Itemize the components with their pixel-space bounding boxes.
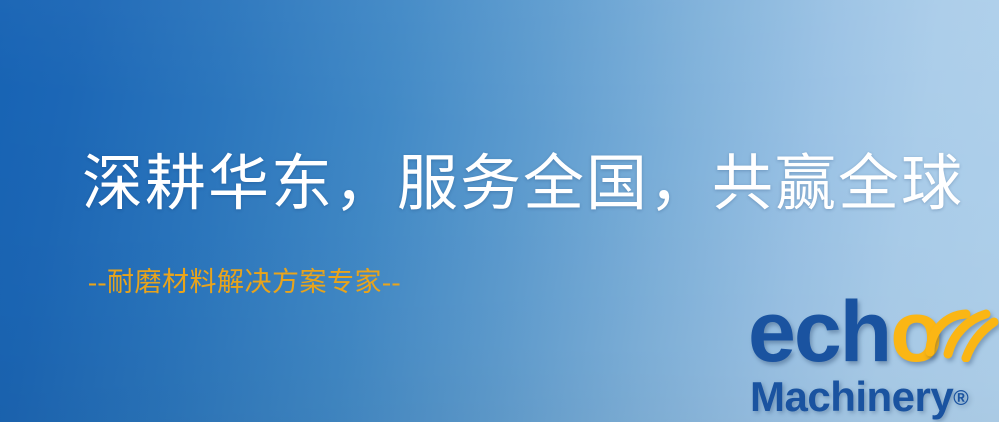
registered-trademark-icon: ®: [953, 387, 968, 410]
logo-wordmark: echo: [748, 290, 941, 374]
hero-banner: 深耕华东，服务全国，共赢全球 --耐磨材料解决方案专家-- echo Machi…: [0, 0, 999, 422]
signal-arcs-icon: [920, 292, 999, 362]
logo-subbrand-text: Machinery: [750, 373, 953, 420]
logo-subbrand: Machinery®: [750, 374, 969, 422]
echo-machinery-logo[interactable]: echo Machinery®: [748, 296, 999, 422]
banner-subtitle: --耐磨材料解决方案专家--: [88, 266, 401, 298]
banner-headline: 深耕华东，服务全国，共赢全球: [82, 152, 964, 218]
logo-wordmark-primary: ech: [748, 284, 890, 380]
